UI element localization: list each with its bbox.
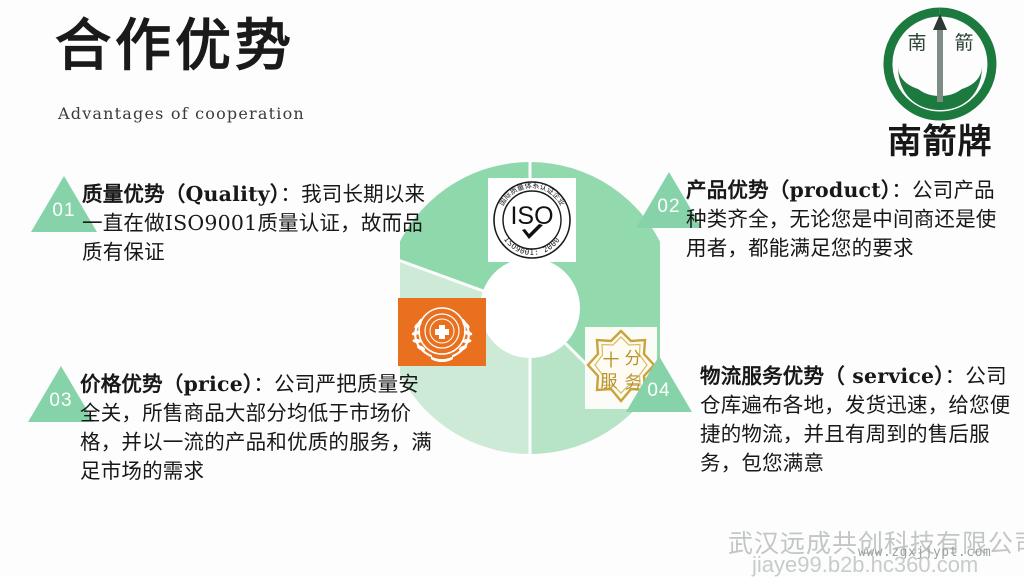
advantage-heading-01: 质量优势（Quality）: [82, 182, 280, 206]
company-logo: 南 箭 南箭牌: [876, 4, 1004, 164]
logo-char-left: 南: [907, 32, 926, 54]
advantage-text-03: 价格优势（price）：公司严把质量安全关，所售商品大部分均低于市场价格，并以一…: [80, 370, 432, 486]
iso-certification-badge: 国际质量体系认证企业 ISO9001: 2000 ISO: [488, 178, 576, 262]
number-badge-04: 04: [626, 356, 692, 412]
advantage-text-02: 产品优势（product）：公司产品种类齐全，无论您是中间商还是使用者，都能满足…: [686, 176, 1008, 263]
quality-seal-badge: [398, 298, 486, 366]
advantage-heading-04: 物流服务优势（ service）: [700, 364, 945, 388]
service-badge-text-bottom-left: 服: [601, 372, 618, 392]
number-label-04: 04: [626, 380, 692, 402]
service-badge-text-top-left: 十: [603, 351, 620, 371]
watermark-company: 武汉远成共创科技有限公司: [728, 524, 1024, 560]
page-subtitle: Advantages of cooperation: [58, 104, 305, 123]
quality-seal-icon: [398, 298, 486, 366]
logo-char-right: 箭: [954, 32, 973, 54]
nanjian-arrow-logo-icon: 南 箭: [876, 4, 1004, 124]
advantage-separator-02: ：: [891, 178, 912, 202]
slide-canvas: 合作优势 Advantages of cooperation 南 箭 南箭牌: [0, 0, 1024, 576]
watermark-url-primary: www.zgxjjypt.com: [858, 545, 991, 560]
advantage-text-01: 质量优势（Quality）：我司长期以来一直在做ISO9001质量认证，故而品质…: [82, 180, 432, 267]
advantage-separator-01: ：: [280, 182, 301, 206]
logo-wordmark: 南箭牌: [876, 114, 1004, 163]
donut-hole: [480, 258, 580, 358]
advantage-separator-04: ：: [945, 364, 966, 388]
advantage-separator-03: ：: [253, 372, 274, 396]
advantage-heading-03: 价格优势（price）: [80, 372, 253, 396]
advantage-text-04: 物流服务优势（ service）：公司仓库遍布各地，发货迅速，给您便捷的物流，并…: [700, 362, 1012, 478]
watermark-url-secondary: jiaye99.b2b.hc360.com: [752, 552, 978, 578]
iso-badge-icon: 国际质量体系认证企业 ISO9001: 2000 ISO: [488, 178, 576, 262]
iso-bottom-text: ISO9001: 2000: [502, 235, 562, 257]
advantage-heading-02: 产品优势（product）: [686, 178, 891, 202]
page-title: 合作优势: [55, 14, 295, 78]
iso-main-text: ISO: [510, 202, 553, 230]
